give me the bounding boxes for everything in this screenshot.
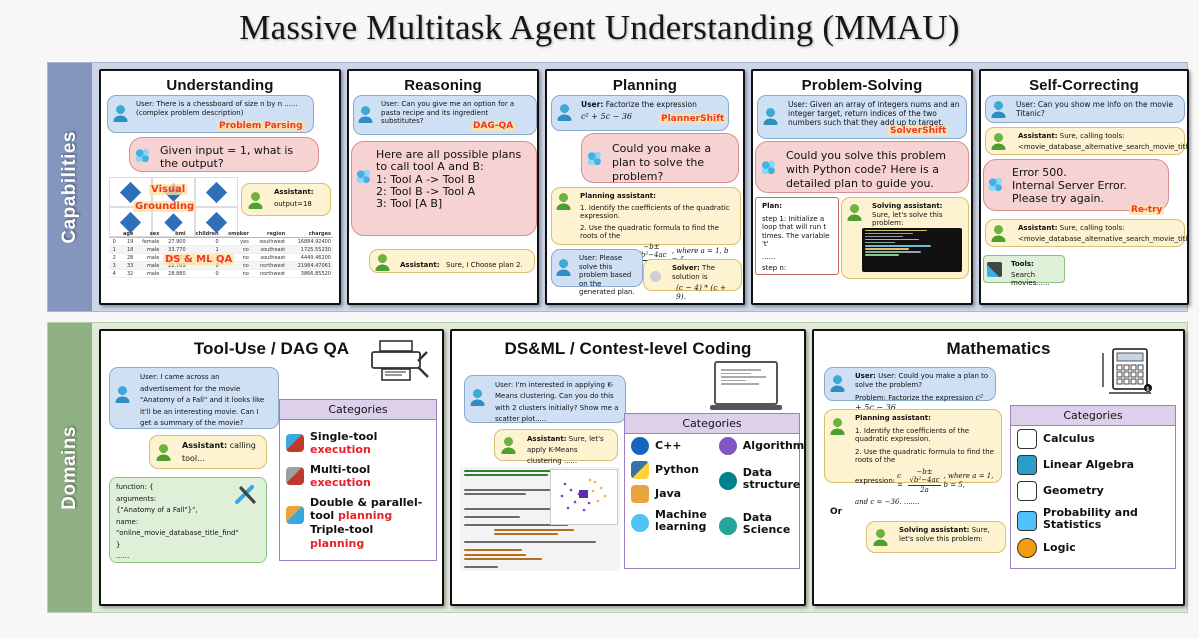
card-reasoning-title: Reasoning bbox=[349, 77, 537, 94]
math-formula-tail2: and c = −36. ....... bbox=[855, 498, 995, 507]
planning-solver-expression: (c − 4) * (c + 9). bbox=[676, 283, 735, 301]
planning-model-text: Could you make a plan to solve the probl… bbox=[612, 142, 732, 183]
tools-icon bbox=[286, 506, 304, 524]
sc-tools-box: Tools: Search movies...... bbox=[983, 255, 1065, 283]
card-mathematics[interactable]: Mathematics $ bbox=[812, 329, 1185, 606]
assistant-avatar-icon bbox=[990, 225, 1007, 242]
mini-plot bbox=[195, 177, 238, 207]
datastructure-icon bbox=[719, 472, 737, 490]
model-avatar-icon bbox=[586, 150, 603, 167]
dsml-source-code bbox=[460, 467, 620, 571]
datascience-icon bbox=[719, 517, 737, 535]
category-item[interactable]: Multi-tool execution bbox=[280, 460, 436, 493]
cpp-icon bbox=[631, 437, 649, 455]
card-problem-solving[interactable]: Problem-Solving User: Given an array of … bbox=[751, 69, 973, 305]
dsml-cat-java: Java bbox=[655, 487, 681, 500]
planning-user-text: Factorize the expression bbox=[606, 100, 697, 109]
planning-user2-text: User: Please solve this problem based on… bbox=[579, 254, 636, 297]
math-formula-numerator: −b± √b²−4ac bbox=[908, 468, 942, 486]
sc-assistant2-bubble: Assistant: Sure, calling tools: <movie_d… bbox=[985, 219, 1185, 247]
user-avatar-icon bbox=[990, 101, 1007, 118]
math-cat-probability: Probability and Statistics bbox=[1043, 507, 1169, 532]
ps-code-block bbox=[862, 228, 962, 272]
sc-assistant1-tool: <movie_database_alternative_search_movie… bbox=[1018, 143, 1178, 152]
reasoning-assistant-bubble: Assistant: Sure, I Choose plan 2. bbox=[369, 249, 535, 273]
brain-icon bbox=[719, 437, 737, 455]
assistant-avatar-icon bbox=[846, 204, 863, 221]
dsml-cat-ml: Machine learning bbox=[655, 509, 707, 534]
tooluse-cat3-black: Triple-tool bbox=[310, 523, 373, 536]
card-self-correcting-title: Self-Correcting bbox=[981, 77, 1187, 94]
planning-plan-step1: 1. Identify the coefficients of the quad… bbox=[580, 204, 734, 221]
card-dsml[interactable]: DS&ML / Contest-level Coding User: I'm i… bbox=[450, 329, 806, 606]
math-formula-lhs: c = bbox=[897, 472, 905, 489]
card-dsml-title: DS&ML / Contest-level Coding bbox=[452, 339, 804, 359]
tooluse-code-box: function: { arguments: {"Anatomy of a Fa… bbox=[109, 477, 267, 563]
sc-assistant1-bubble: Assistant: Sure, calling tools: <movie_d… bbox=[985, 127, 1185, 155]
planning-plan-bubble: Planning assistant: 1. Identify the coef… bbox=[551, 187, 741, 245]
ps-plan-dots: ...... bbox=[762, 253, 832, 262]
category-item[interactable]: Probability and Statistics bbox=[1011, 504, 1175, 535]
math-plan-bubble: Planning assistant: 1. Identify the coef… bbox=[824, 409, 1002, 483]
tooluse-user-text: User: I came across an advertisement for… bbox=[140, 372, 272, 430]
understanding-assistant-bubble: Assistant: output=18 bbox=[241, 183, 331, 216]
tag-retry: Re-try bbox=[1129, 205, 1164, 215]
ps-solver-label: Solving assistant: bbox=[872, 202, 942, 210]
ps-solver-text: Sure, let's solve this problem: bbox=[872, 211, 942, 228]
dsml-categories-header: Categories bbox=[625, 414, 799, 434]
model-avatar-icon bbox=[355, 168, 372, 185]
dsml-cat-cpp: C++ bbox=[655, 439, 682, 452]
math-cat-linear-algebra: Linear Algebra bbox=[1043, 458, 1134, 471]
category-item[interactable]: Algorithm bbox=[713, 434, 806, 458]
tools-icon bbox=[987, 262, 1002, 277]
model-avatar-icon bbox=[760, 159, 777, 176]
table-row: 432male28.8800nonorthwest3866.85520 bbox=[109, 270, 333, 278]
card-reasoning[interactable]: Reasoning User: Can you give me an optio… bbox=[347, 69, 539, 305]
capabilities-side-label: Capabilities bbox=[48, 63, 92, 311]
tooluse-user-bubble: User: I came across an advertisement for… bbox=[109, 367, 279, 429]
category-item[interactable]: Single-tool execution bbox=[280, 420, 436, 460]
math-cat-logic: Logic bbox=[1043, 541, 1076, 554]
assistant-avatar-icon bbox=[829, 418, 846, 435]
ps-model-text: Could you solve this problem with Python… bbox=[786, 149, 962, 191]
tooluse-cat0-red: execution bbox=[310, 443, 371, 456]
java-icon bbox=[631, 485, 649, 503]
assistant-avatar-icon bbox=[872, 529, 889, 546]
sc-assistant2-text: Sure, calling tools: bbox=[1060, 224, 1125, 232]
category-item[interactable]: Double & parallel-tool planning Triple-t… bbox=[280, 493, 436, 554]
card-planning[interactable]: Planning User: Factorize the expression … bbox=[545, 69, 745, 305]
card-tool-use[interactable]: Tool-Use / DAG QA User: I came across an… bbox=[99, 329, 444, 606]
ps-solver-bubble: Solving assistant: Sure, let's solve thi… bbox=[841, 197, 969, 279]
probability-icon bbox=[1017, 511, 1037, 531]
understanding-assistant-value: output=18 bbox=[274, 200, 324, 209]
logic-icon bbox=[1017, 538, 1037, 558]
card-planning-title: Planning bbox=[547, 77, 743, 94]
assistant-avatar-icon bbox=[247, 192, 264, 209]
assistant-avatar-icon bbox=[990, 133, 1007, 150]
user-avatar-icon bbox=[762, 108, 779, 125]
category-item[interactable]: Data Science bbox=[713, 509, 806, 540]
assistant-avatar-icon bbox=[500, 437, 517, 454]
dsml-cat-datastructure: Data structure bbox=[743, 467, 804, 492]
planning-plan-step2: 2. Use the quadratic formula to find the… bbox=[580, 224, 734, 241]
reasoning-assistant-label: Assistant: bbox=[400, 261, 440, 270]
user-avatar-icon bbox=[357, 106, 374, 123]
math-solver-bubble: Solving assistant: Sure, let's solve thi… bbox=[866, 521, 1006, 553]
ps-user-text: User: Given an array of integers nums an… bbox=[788, 100, 960, 127]
card-self-correcting[interactable]: Self-Correcting User: Can you show me in… bbox=[979, 69, 1189, 305]
tooluse-cat3-red: planning bbox=[310, 537, 364, 550]
page-title: Massive Multitask Agent Understanding (M… bbox=[0, 8, 1199, 48]
category-item[interactable]: Machine learning bbox=[625, 506, 713, 537]
category-item[interactable]: C++ bbox=[625, 434, 713, 458]
math-cat-calculus: Calculus bbox=[1043, 432, 1095, 445]
ps-model-bubble: Could you solve this problem with Python… bbox=[755, 141, 969, 193]
tools-icon bbox=[286, 467, 304, 485]
dsml-categories: Categories C++ Python bbox=[624, 413, 800, 569]
tooluse-assistant-bubble: Assistant: calling tool... bbox=[149, 435, 267, 469]
math-categories-header: Categories bbox=[1011, 406, 1175, 426]
capabilities-section: Capabilities Understanding User: There i… bbox=[47, 62, 1188, 312]
tooluse-categories: Categories Single-tool execution Multi-t… bbox=[279, 399, 437, 561]
reasoning-assistant-value: Sure, I Choose plan 2. bbox=[446, 261, 523, 270]
card-understanding[interactable]: Understanding User: There is a chessboar… bbox=[99, 69, 341, 305]
dsml-cat-python: Python bbox=[655, 463, 699, 476]
calculus-icon bbox=[1017, 429, 1037, 449]
reasoning-model-text: Here are all possible plans to call tool… bbox=[376, 149, 530, 211]
math-solver-label: Solving assistant: bbox=[899, 526, 969, 534]
linear-algebra-icon bbox=[1017, 455, 1037, 475]
assistant-avatar-icon bbox=[155, 444, 172, 461]
tooluse-cat1-black: Multi-tool bbox=[310, 463, 370, 476]
planning-user2-bubble: User: Please solve this problem based on… bbox=[551, 249, 643, 287]
model-avatar-icon bbox=[987, 176, 1004, 193]
user-avatar-icon bbox=[555, 259, 572, 276]
tooluse-cat2-red: planning bbox=[338, 509, 392, 522]
tag-planner-shift: PlannerShift bbox=[659, 114, 726, 124]
geometry-icon bbox=[1017, 481, 1037, 501]
planning-solver-label: Solver: bbox=[672, 264, 700, 272]
understanding-model-bubble: Given input = 1, what is the output? bbox=[129, 137, 319, 172]
calculator-icon: $ bbox=[1095, 343, 1161, 399]
domains-cards: Tool-Use / DAG QA User: I came across an… bbox=[92, 323, 1192, 612]
domains-section: Domains Tool-Use / DAG QA User: bbox=[47, 322, 1188, 613]
category-item[interactable]: Python bbox=[625, 458, 713, 482]
overlay-visual: Visual bbox=[149, 184, 187, 195]
printer-icon bbox=[368, 339, 430, 383]
sc-model-text: Error 500. Internal Server Error. Please… bbox=[1012, 166, 1162, 206]
category-item[interactable]: Geometry bbox=[1011, 478, 1175, 504]
laptop-icon bbox=[714, 361, 778, 405]
capabilities-cards: Understanding User: There is a chessboar… bbox=[92, 63, 1196, 311]
category-item[interactable]: Linear Algebra bbox=[1011, 452, 1175, 478]
overlay-grounding: Grounding bbox=[133, 201, 196, 212]
dsml-cat-datascience: Data Science bbox=[743, 512, 804, 537]
math-plan-step2: 2. Use the quadratic formula to find the… bbox=[855, 448, 995, 465]
user-avatar-icon bbox=[114, 386, 131, 403]
user-avatar-icon bbox=[469, 389, 486, 406]
planning-model-bubble: Could you make a plan to solve the probl… bbox=[581, 133, 739, 183]
planning-user-bubble: User: Factorize the expression c² + 5c −… bbox=[551, 95, 729, 131]
python-icon bbox=[631, 461, 649, 479]
overlay-dsml-qa: DS & ML QA bbox=[163, 254, 234, 265]
sc-user-text: User: Can you show me info on the movie … bbox=[1016, 100, 1178, 118]
math-formula-tail: , where a = 1, b = 5, bbox=[943, 472, 995, 489]
math-user-line2: Problem: Factorize the expression bbox=[855, 394, 973, 402]
sc-assistant2-tool: <movie_database_alternative_search_movie… bbox=[1018, 235, 1178, 244]
planning-user-label: User: bbox=[581, 100, 603, 109]
ps-plan-stepn: step n: bbox=[762, 264, 832, 273]
tooluse-assistant-label: Assistant: bbox=[182, 441, 227, 450]
svg-text:$: $ bbox=[1146, 386, 1150, 393]
sc-assistant1-text: Sure, calling tools: bbox=[1060, 132, 1125, 140]
user-avatar-icon bbox=[829, 375, 846, 392]
dsml-user-text: User: I'm interested in applying K-Means… bbox=[495, 380, 619, 425]
table-row: 019female27.9000yessouthwest16884.92400 bbox=[109, 238, 333, 246]
user-avatar-icon bbox=[112, 105, 129, 122]
category-item[interactable]: Data structure bbox=[713, 464, 806, 495]
category-item[interactable]: Logic bbox=[1011, 535, 1175, 561]
dsml-assistant-bubble: Assistant: Sure, let's apply K-Means clu… bbox=[494, 429, 618, 461]
understanding-model-text: Given input = 1, what is the output? bbox=[160, 144, 312, 171]
tag-solver-shift: SolverShift bbox=[888, 126, 948, 136]
understanding-user-text: User: There is a chessboard of size n by… bbox=[136, 100, 307, 117]
sc-assistant1-label: Assistant: bbox=[1018, 132, 1058, 140]
sc-assistant2-label: Assistant: bbox=[1018, 224, 1058, 232]
sc-tools-text: Search movies...... bbox=[1011, 271, 1058, 288]
tag-dag-qa: DAG-QA bbox=[471, 121, 515, 131]
sc-model-bubble: Error 500. Internal Server Error. Please… bbox=[983, 159, 1169, 211]
model-avatar-icon bbox=[134, 147, 151, 164]
table-row: 118male33.7701nosoutheast1725.55230 bbox=[109, 246, 333, 254]
math-plan-header: Planning assistant: bbox=[855, 414, 995, 423]
ps-plan-step1: step 1: Initialize a loop that will run … bbox=[762, 215, 832, 249]
capabilities-side-label-text: Capabilities bbox=[59, 131, 81, 244]
math-plan-step1: 1. Identify the coefficients of the quad… bbox=[855, 427, 995, 444]
category-item[interactable]: Calculus bbox=[1011, 426, 1175, 452]
wrench-icon bbox=[234, 482, 260, 506]
sc-user-bubble: User: Can you show me info on the movie … bbox=[985, 95, 1185, 123]
math-categories: Categories Calculus Linear Algebra Geome… bbox=[1010, 405, 1176, 569]
math-formula-prefix: expression: bbox=[855, 477, 895, 486]
ps-plan-box: Plan: step 1: Initialize a loop that wil… bbox=[755, 197, 839, 275]
category-item[interactable]: Java bbox=[625, 482, 713, 506]
dsml-assistant-label: Assistant: bbox=[527, 435, 567, 443]
tooluse-cat1-red: execution bbox=[310, 476, 371, 489]
math-user-bubble: User: User: Could you make a plan to sol… bbox=[824, 367, 996, 401]
planning-plan-header: Planning assistant: bbox=[580, 192, 734, 201]
assistant-avatar-icon bbox=[374, 254, 391, 271]
card-understanding-title: Understanding bbox=[101, 77, 339, 94]
sc-tools-label: Tools: bbox=[1011, 260, 1058, 269]
domains-side-label: Domains bbox=[48, 323, 92, 612]
tooluse-categories-header: Categories bbox=[280, 400, 436, 420]
tooluse-cat0-black: Single-tool bbox=[310, 430, 377, 443]
math-formula-denominator: 2a bbox=[908, 486, 942, 495]
gear-icon bbox=[647, 268, 664, 285]
planning-solver-bubble: Solver: The solution is (c − 4) * (c + 9… bbox=[643, 259, 742, 291]
understanding-assistant-label: Assistant: bbox=[274, 188, 324, 197]
domains-side-label-text: Domains bbox=[59, 426, 81, 510]
math-or-label: Or bbox=[830, 507, 842, 518]
tag-problem-parsing: Problem Parsing bbox=[217, 121, 305, 131]
ps-plan-title: Plan: bbox=[762, 202, 832, 211]
poster-root: Massive Multitask Agent Understanding (M… bbox=[0, 0, 1199, 638]
user-avatar-icon bbox=[556, 104, 573, 121]
tools-icon bbox=[286, 434, 304, 452]
dsml-user-bubble: User: I'm interested in applying K-Means… bbox=[464, 375, 626, 423]
card-problem-solving-title: Problem-Solving bbox=[753, 77, 971, 94]
assistant-avatar-icon bbox=[555, 193, 572, 210]
reasoning-model-bubble: Here are all possible plans to call tool… bbox=[351, 141, 537, 236]
ml-icon bbox=[631, 514, 649, 532]
math-cat-geometry: Geometry bbox=[1043, 484, 1104, 497]
dsml-cat-algorithm: Algorithm bbox=[743, 439, 804, 452]
